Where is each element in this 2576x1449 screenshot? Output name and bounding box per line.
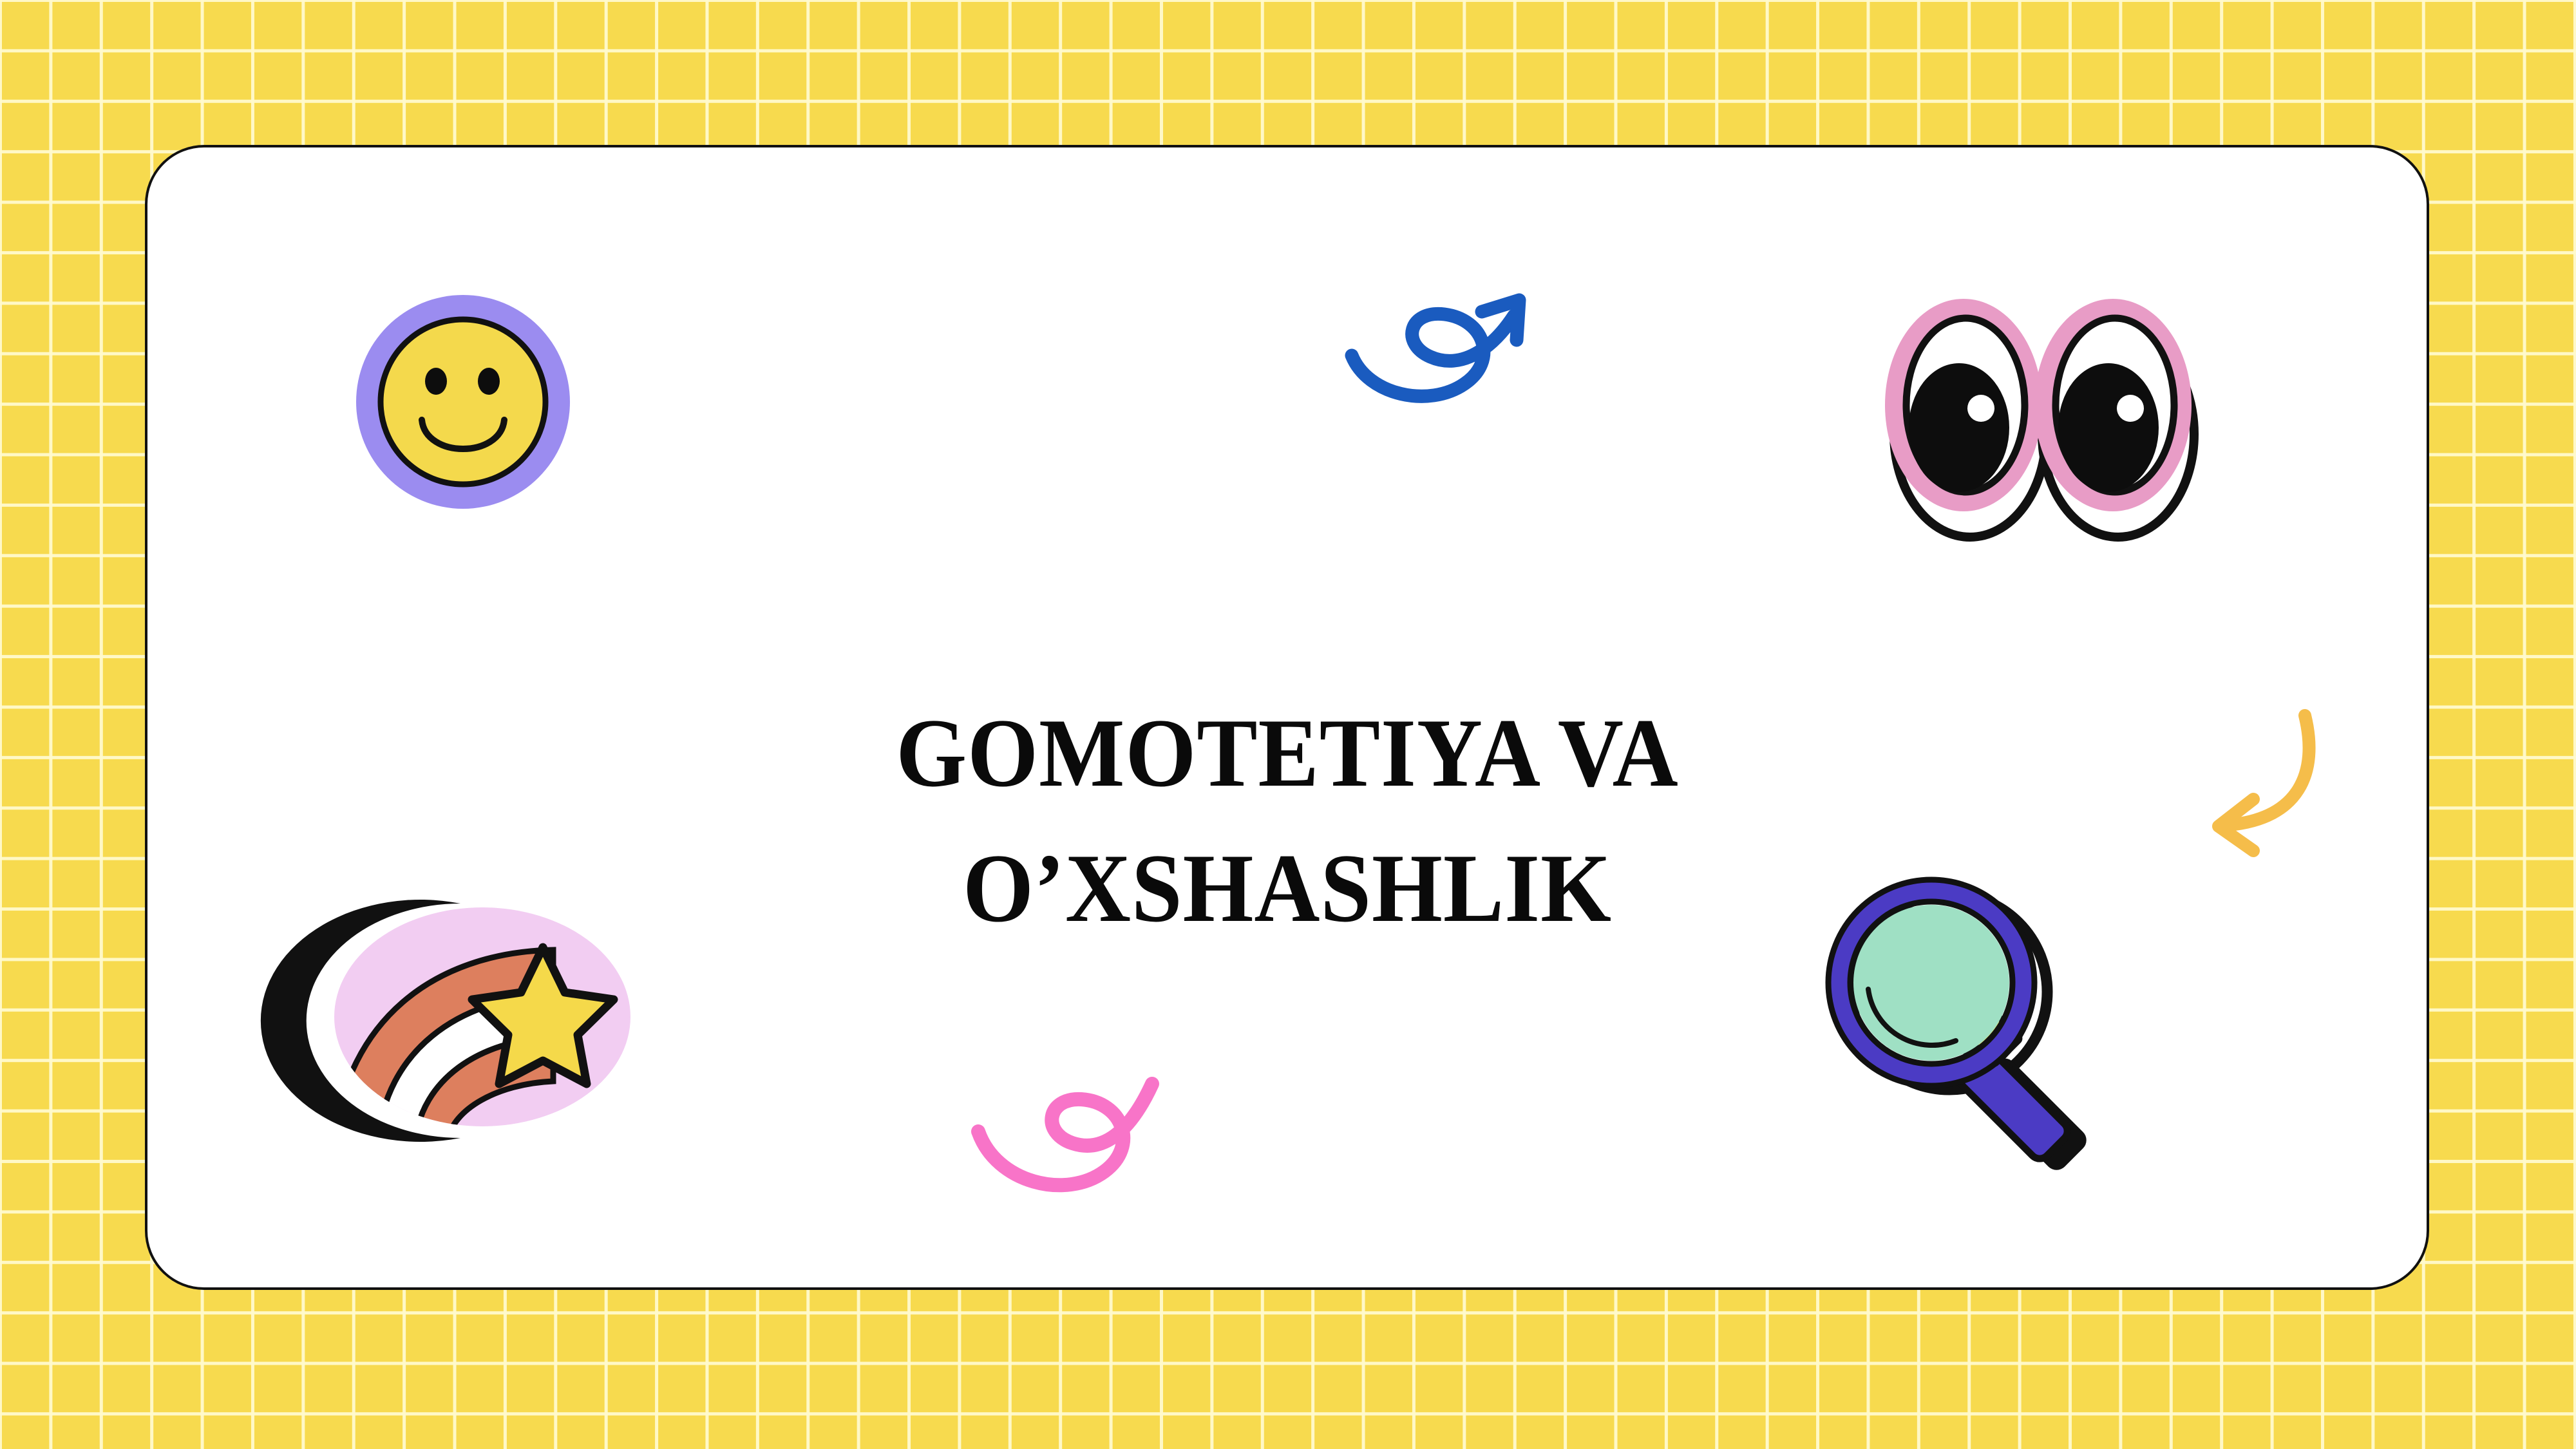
eye-left-pupil [1909,363,2009,492]
smiley-left-eye [425,368,447,395]
page-title: GOMOTETIYA VA O’XSHASHLIK [708,685,1867,956]
title-line-2: O’XSHASHLIK [748,820,1826,956]
smiley-face-sticker [341,273,598,531]
title-line-1: GOMOTETIYA VA [748,685,1826,820]
pink-squiggle-curl [978,1084,1152,1185]
cartoon-eyes-sticker [1873,276,2208,560]
smiley-face [381,319,545,484]
magnifying-glass-sticker [1822,872,2131,1162]
eye-right-pupil [2058,363,2159,492]
shooting-star-sticker [296,888,643,1146]
eye-right-highlight [2117,395,2144,422]
slide-card: GOMOTETIYA VA O’XSHASHLIK [145,145,2429,1290]
eye-left-highlight [1967,395,1994,422]
pink-loop-squiggle-doodle [959,1043,1178,1197]
blue-arrow-curl [1352,314,1514,396]
yellow-curved-arrow-doodle [2183,701,2331,869]
smiley-right-eye [478,368,500,395]
slide-canvas: GOMOTETIYA VA O’XSHASHLIK [0,0,2576,1449]
magnifier-lens [1853,905,2009,1061]
blue-loop-arrow-doodle [1332,273,1551,408]
